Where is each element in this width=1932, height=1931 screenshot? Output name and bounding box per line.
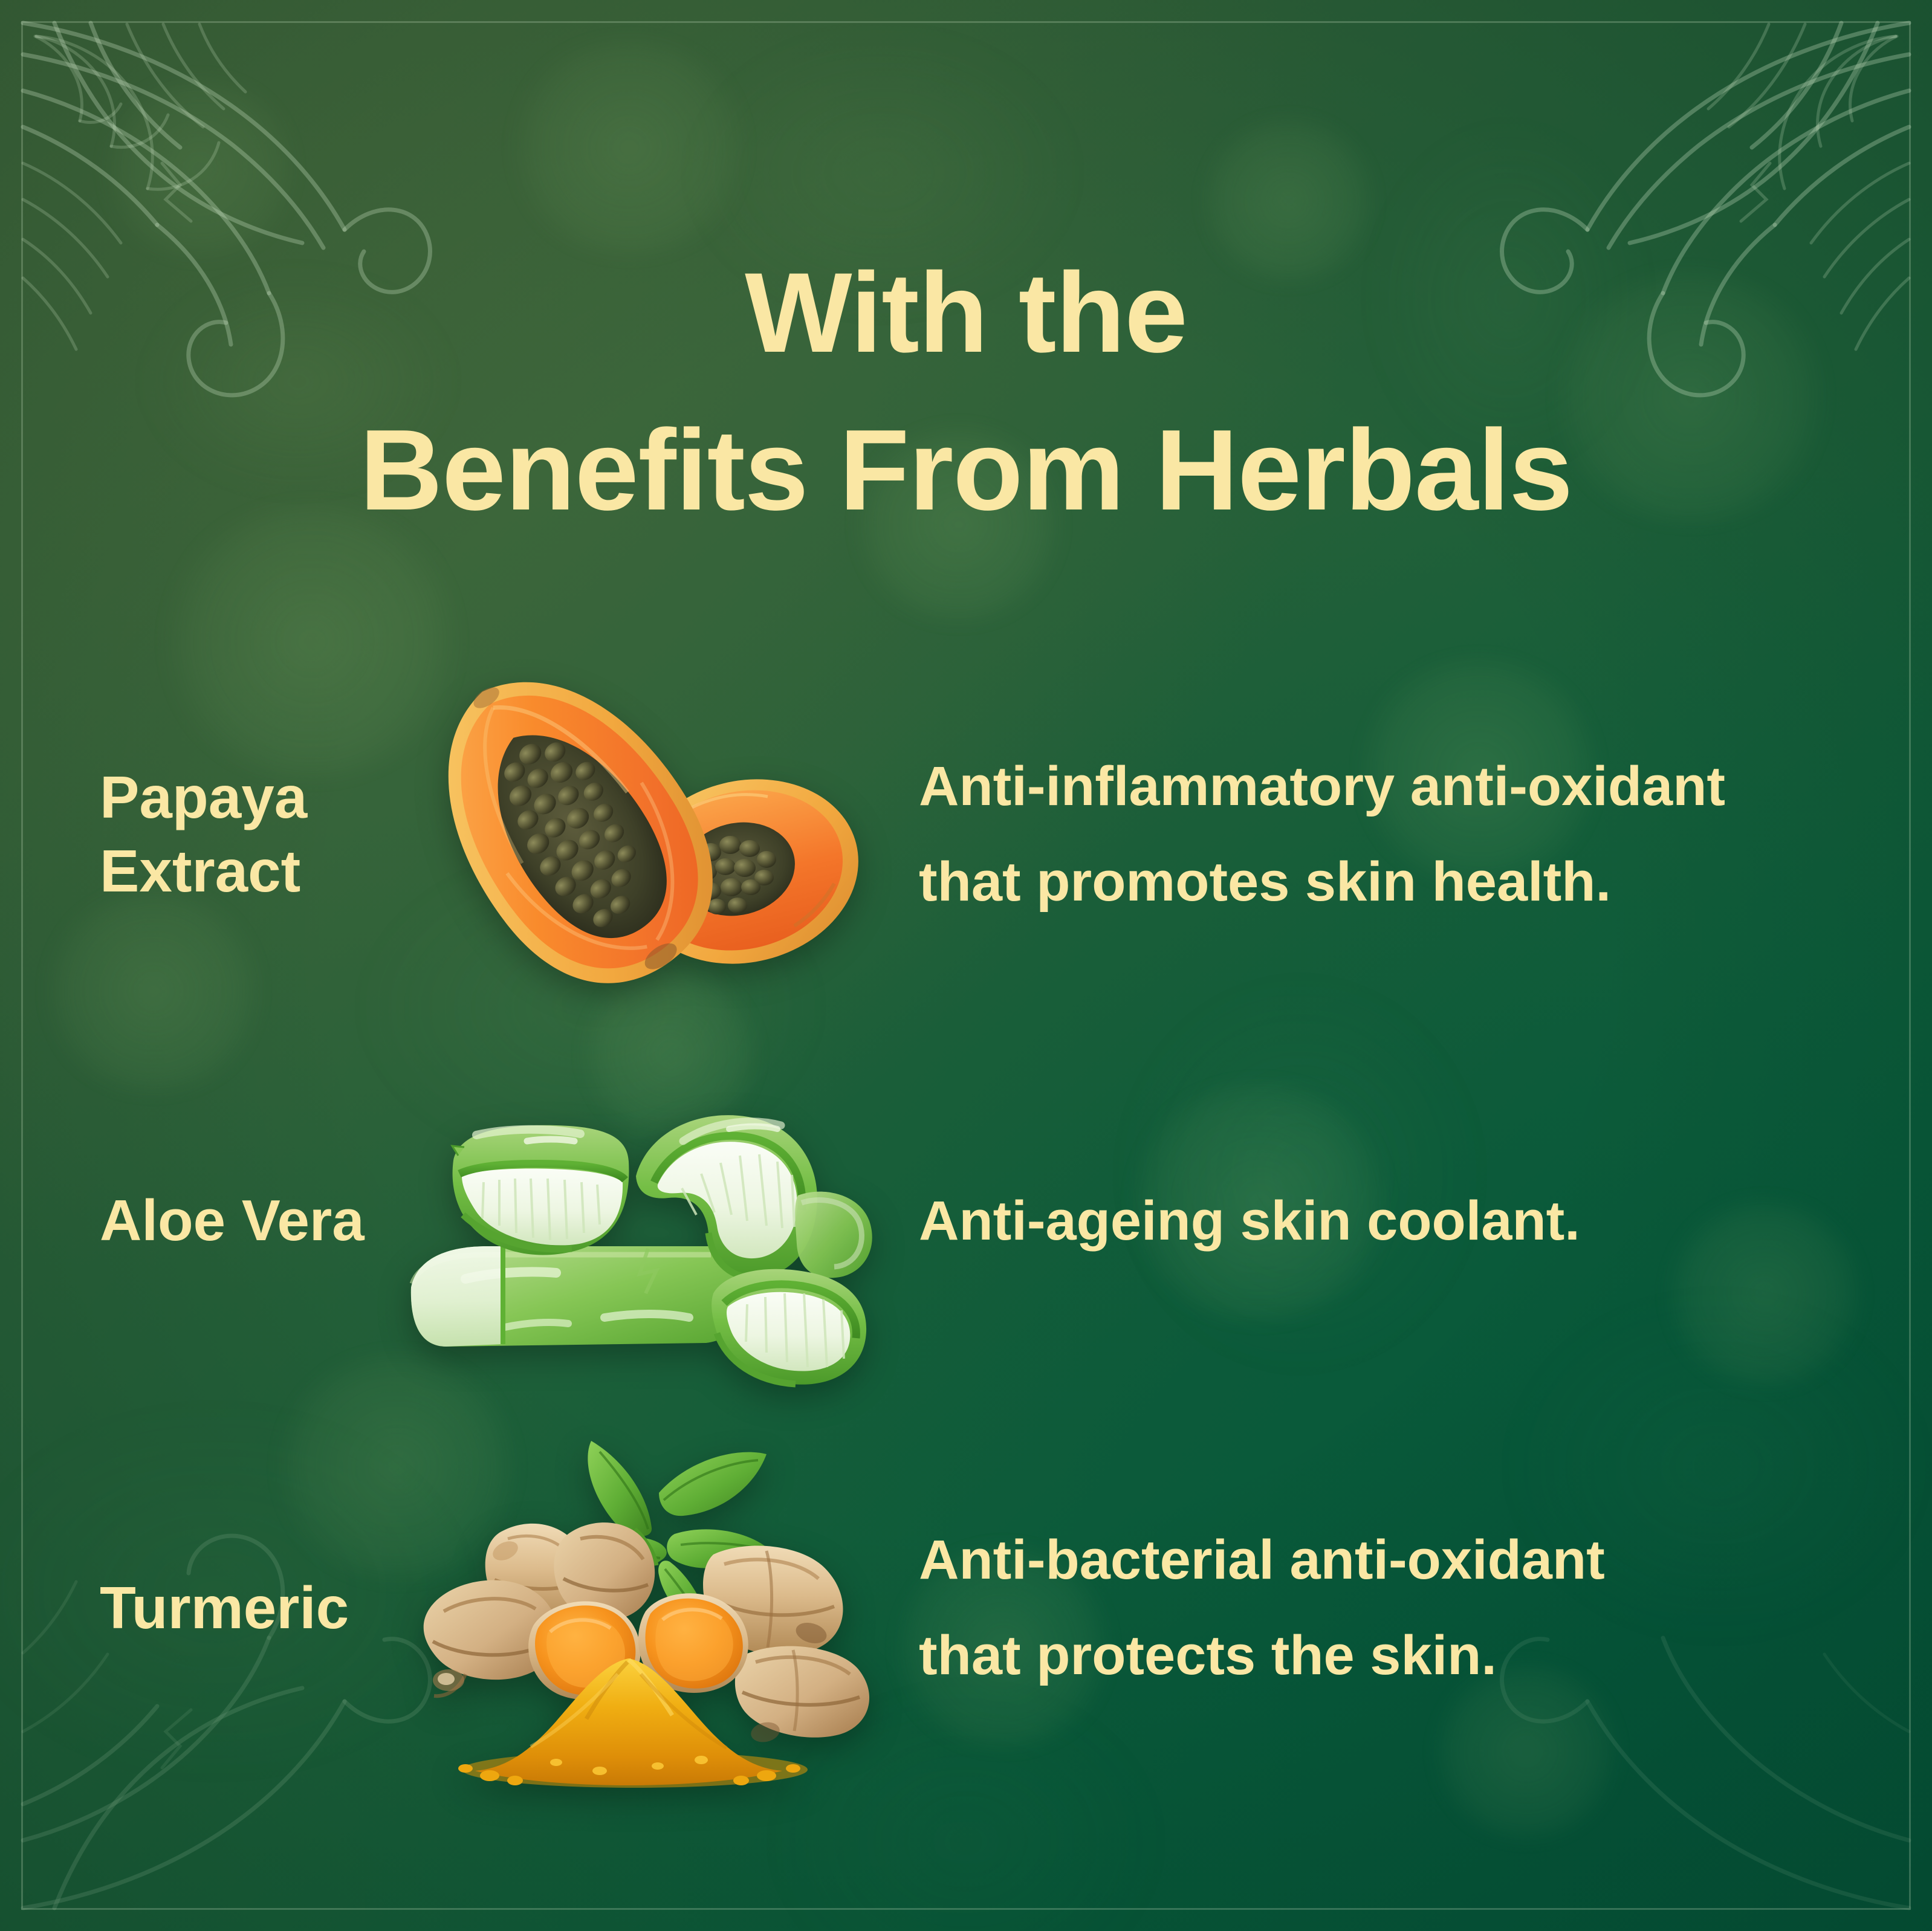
ingredient-description-papaya: Anti-inflammatory anti-oxidant that prom… xyxy=(895,739,1932,930)
title-line-1: With the xyxy=(745,249,1187,376)
ingredient-row-turmeric: Turmeric xyxy=(0,1414,1932,1801)
description-line-1: Anti-bacterial anti-oxidant xyxy=(919,1529,1605,1591)
ingredient-name-line-1: Aloe Vera xyxy=(100,1188,365,1253)
title-line-2: Benefits From Herbals xyxy=(0,391,1932,549)
ingredient-row-aloe-vera: Aloe Vera xyxy=(0,1027,1932,1414)
ingredient-name-line-1: Turmeric xyxy=(100,1574,349,1641)
description-line-1: Anti-inflammatory anti-oxidant xyxy=(919,755,1725,817)
poster-canvas: With the Benefits From Herbals Papaya Ex… xyxy=(0,0,1932,1931)
ingredient-name-aloe-vera: Aloe Vera xyxy=(0,1185,375,1257)
ingredient-row-papaya: Papaya Extract xyxy=(0,641,1932,1027)
ingredient-name-line-2: Extract xyxy=(100,838,300,904)
ingredient-name-papaya: Papaya Extract xyxy=(0,760,375,908)
ingredient-name-line-1: Papaya xyxy=(100,764,307,830)
ingredient-description-turmeric: Anti-bacterial anti-oxidant that protect… xyxy=(895,1512,1932,1703)
ingredient-description-aloe-vera: Anti-ageing skin coolant. xyxy=(895,1173,1932,1269)
ingredient-name-turmeric: Turmeric xyxy=(0,1571,375,1645)
ingredient-image-papaya xyxy=(375,647,895,1021)
description-line-1: Anti-ageing skin coolant. xyxy=(919,1190,1580,1252)
ingredient-image-aloe-vera xyxy=(375,1033,895,1408)
description-line-2: that protects the skin. xyxy=(919,1625,1497,1686)
description-line-2: that promotes skin health. xyxy=(919,851,1611,913)
ingredient-image-turmeric xyxy=(375,1420,895,1795)
page-title: With the Benefits From Herbals xyxy=(0,235,1932,550)
ingredient-list: Papaya Extract xyxy=(0,641,1932,1801)
